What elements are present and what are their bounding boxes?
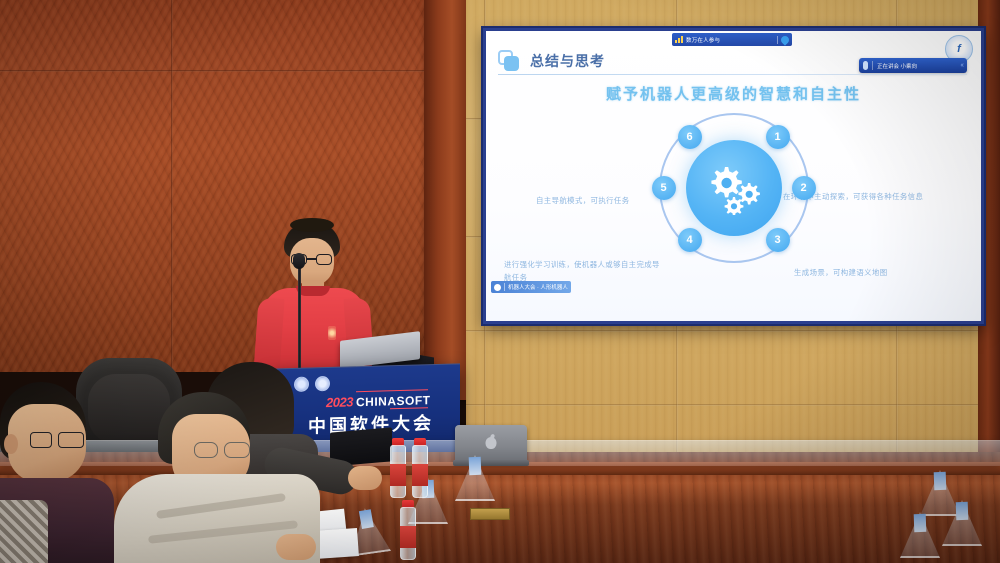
slide-section-title: 总结与思考 (530, 51, 605, 71)
diagram-node-5: 5 (652, 176, 676, 200)
slide-watermark-chip: 机器人大会 · 人形机器人 (491, 281, 571, 293)
slide-heading: 赋予机器人更高级的智慧和自主性 (486, 83, 981, 104)
attendee-center-hand (276, 534, 316, 560)
apple-logo-icon (486, 437, 497, 449)
attendee-left-ear (4, 434, 18, 454)
slide-canvas: 数万在人参与 f 正在讲会 小乘向 ‹‹ 总结与思考 (486, 31, 981, 321)
diagram-node-6: 6 (678, 125, 702, 149)
attendee-front-left-person (0, 382, 116, 563)
table-nameplate (470, 508, 510, 520)
slide-header: 总结与思考 (498, 49, 967, 75)
diagram-node-3: 3 (766, 228, 790, 252)
wall-pillar (424, 0, 472, 400)
watermark-label: 机器人大会 · 人形机器人 (508, 283, 568, 291)
water-bottle (390, 438, 406, 498)
rounded-squares-icon (498, 50, 520, 72)
header-divider (498, 74, 967, 75)
diagram-node-2: 2 (792, 176, 816, 200)
diagram-ring: 1 2 3 4 5 6 (659, 113, 809, 263)
diagram-node-4: 4 (678, 228, 702, 252)
record-dot-icon (494, 284, 501, 291)
stream-viewer-label: 数万在人参与 (686, 36, 774, 44)
water-bottle (412, 438, 428, 498)
podium-english-title: CHINASOFT (356, 393, 431, 409)
presenter-collar (296, 286, 330, 296)
attendee-center-glasses-icon (194, 442, 252, 458)
name-card-holder (900, 512, 940, 558)
attendee-left-glasses-icon (30, 432, 86, 448)
signal-bars-icon (675, 36, 683, 43)
wall-seam-horizontal (0, 70, 470, 72)
attendee-center-person (128, 392, 328, 563)
podium-year: 2023 (326, 394, 353, 410)
conference-emblem-icon (315, 376, 330, 391)
diagram-node-1: 1 (766, 125, 790, 149)
gears-icon (703, 161, 765, 215)
wall-seam-vertical (171, 0, 173, 372)
circular-process-diagram: 自主导航模式，可执行任务 进行强化学习训练，使机器人或够自主完成导航任务 将Ch… (486, 109, 981, 289)
presenter-shirt-logo (328, 326, 336, 340)
water-bottle (400, 500, 416, 560)
flame-icon (779, 34, 790, 45)
attendee-back-hand (348, 466, 382, 490)
conference-room-scene: 数万在人参与 f 正在讲会 小乘向 ‹‹ 总结与思考 (0, 0, 1000, 563)
microphone-stand (298, 262, 301, 368)
name-card-holder (455, 455, 495, 501)
microphone-head-icon (293, 253, 305, 269)
stream-viewer-overlay: 数万在人参与 (672, 33, 792, 46)
diagram-text-2: 生成场景，可构建语义地图 (794, 267, 954, 280)
back-wall-dark-wood (0, 0, 470, 372)
attendee-left-coat (0, 500, 48, 563)
name-card-holder (942, 500, 982, 546)
projection-screen: 数万在人参与 f 正在讲会 小乘向 ‹‹ 总结与思考 (483, 28, 984, 324)
